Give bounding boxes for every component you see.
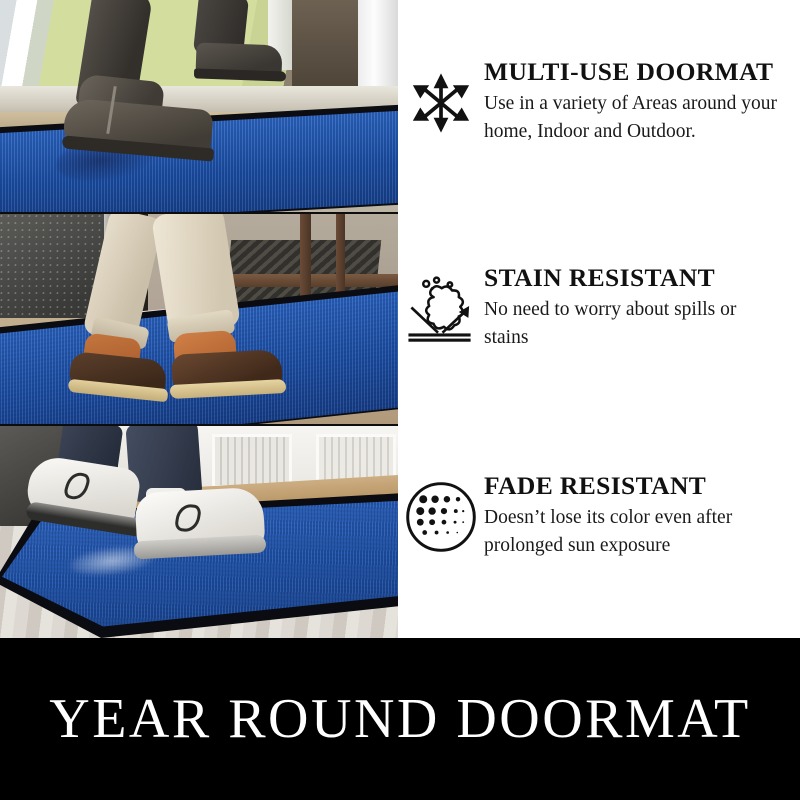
bottom-banner: YEAR ROUND DOORMAT bbox=[0, 638, 800, 800]
feature-text: MULTI-USE DOORMAT Use in a variety of Ar… bbox=[484, 56, 792, 145]
product-photo-duck-boots bbox=[0, 214, 398, 424]
liquid-repel-icon bbox=[398, 262, 484, 352]
feature-text: FADE RESISTANT Doesn’t lose its color ev… bbox=[484, 470, 792, 559]
feature-title: MULTI-USE DOORMAT bbox=[484, 58, 784, 86]
product-infographic: MULTI-USE DOORMAT Use in a variety of Ar… bbox=[0, 0, 800, 800]
door-window-left bbox=[212, 434, 292, 488]
feature-description: No need to worry about spills or stains bbox=[484, 296, 784, 351]
four-way-arrows-icon bbox=[398, 56, 484, 146]
photo-column bbox=[0, 0, 398, 638]
feature-stain-resistant: STAIN RESISTANT No need to worry about s… bbox=[398, 262, 800, 352]
feature-list: MULTI-USE DOORMAT Use in a variety of Ar… bbox=[398, 0, 800, 638]
feature-fade-resistant: FADE RESISTANT Doesn’t lose its color ev… bbox=[398, 470, 800, 560]
product-photo-white-sneakers bbox=[0, 426, 398, 638]
feature-title: STAIN RESISTANT bbox=[484, 264, 784, 292]
fading-dots-icon bbox=[398, 470, 484, 560]
feature-description: Use in a variety of Areas around your ho… bbox=[484, 90, 784, 145]
banner-headline: YEAR ROUND DOORMAT bbox=[49, 691, 750, 747]
feature-description: Doesn’t lose its color even after prolon… bbox=[484, 504, 784, 559]
photo-2-scene bbox=[0, 214, 398, 424]
feature-multi-use: MULTI-USE DOORMAT Use in a variety of Ar… bbox=[398, 56, 800, 146]
photo-3-scene bbox=[0, 426, 398, 638]
product-photo-grey-boots bbox=[0, 0, 398, 212]
feature-title: FADE RESISTANT bbox=[484, 472, 784, 500]
feature-text: STAIN RESISTANT No need to worry about s… bbox=[484, 262, 792, 351]
photo-1-scene bbox=[0, 0, 398, 212]
